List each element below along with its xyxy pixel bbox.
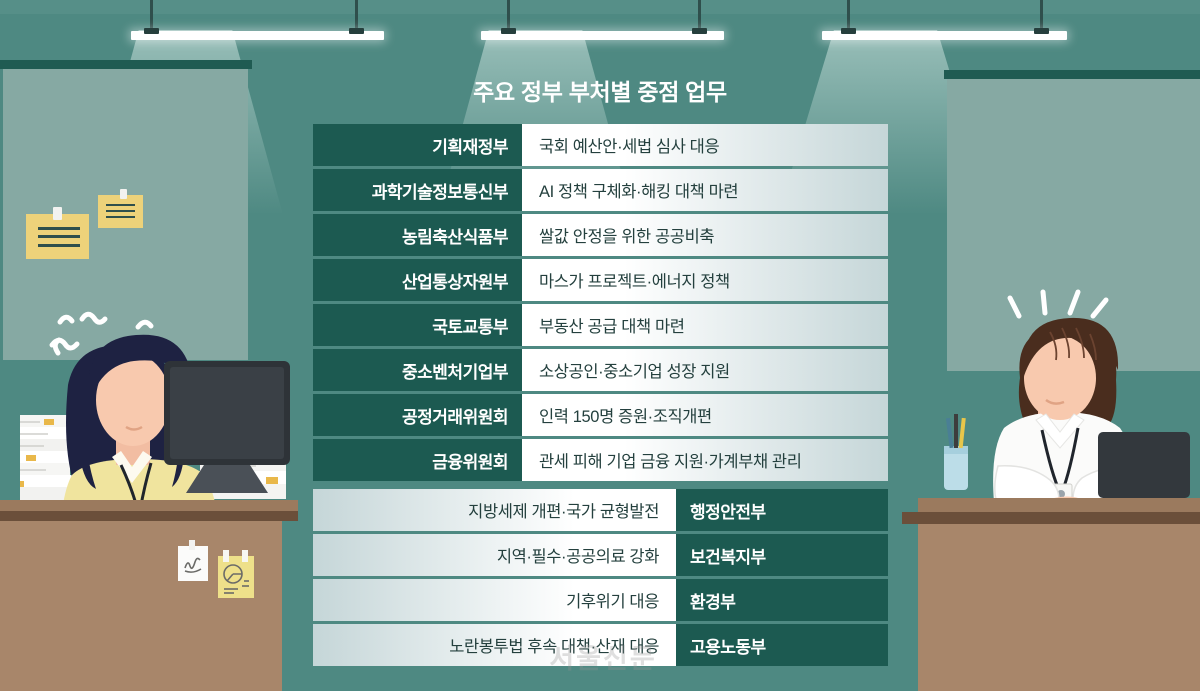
paper-stack-left — [20, 415, 72, 501]
left-desk-front — [0, 520, 282, 691]
ministry-label: 보건복지부 — [676, 534, 888, 576]
task-value: 기후위기 대응 — [313, 579, 676, 621]
ministry-task-table-primary: 기획재정부 국회 예산안·세법 심사 대응 과학기술정보통신부 AI 정책 구체… — [313, 124, 888, 484]
exclamation-rays-icon — [1010, 292, 1106, 316]
task-value: 국회 예산안·세법 심사 대응 — [522, 124, 888, 166]
task-value: 부동산 공급 대책 마련 — [522, 304, 888, 346]
table-row: 중소벤처기업부 소상공인·중소기업 성장 지원 — [313, 349, 888, 391]
table-row: 노란봉투법 후속 대책·산재 대응 고용노동부 — [313, 624, 888, 666]
task-value: 지역·필수·공공의료 강화 — [313, 534, 676, 576]
task-value: 지방세제 개편·국가 균형발전 — [313, 489, 676, 531]
ministry-label: 공정거래위원회 — [313, 394, 522, 436]
table-row: 지방세제 개편·국가 균형발전 행정안전부 — [313, 489, 888, 531]
right-desk-front — [918, 523, 1200, 691]
task-value: 인력 150명 증원·조직개편 — [522, 394, 888, 436]
left-desk-edge — [0, 511, 298, 521]
task-value: AI 정책 구체화·해킹 대책 마련 — [522, 169, 888, 211]
table-row: 기후위기 대응 환경부 — [313, 579, 888, 621]
ministry-label: 고용노동부 — [676, 624, 888, 666]
ministry-label: 국토교통부 — [313, 304, 522, 346]
ministry-label: 과학기술정보통신부 — [313, 169, 522, 211]
table-row: 국토교통부 부동산 공급 대책 마련 — [313, 304, 888, 346]
task-value: 마스가 프로젝트·에너지 정책 — [522, 259, 888, 301]
monitor-screen — [1098, 432, 1190, 498]
ministry-label: 농림축산식품부 — [313, 214, 522, 256]
ministry-label: 중소벤처기업부 — [313, 349, 522, 391]
ministry-label: 행정안전부 — [676, 489, 888, 531]
table-row: 지역·필수·공공의료 강화 보건복지부 — [313, 534, 888, 576]
desk-note-white-chart — [178, 546, 208, 581]
desk-note-yellow-pie — [218, 556, 254, 598]
ministry-task-table-secondary: 지방세제 개편·국가 균형발전 행정안전부 지역·필수·공공의료 강화 보건복지… — [313, 489, 888, 669]
task-value: 노란봉투법 후속 대책·산재 대응 — [313, 624, 676, 666]
left-whiteboard-frame — [0, 60, 252, 69]
task-value: 쌀값 안정을 위한 공공비축 — [522, 214, 888, 256]
table-row: 공정거래위원회 인력 150명 증원·조직개편 — [313, 394, 888, 436]
ministry-label: 금융위원회 — [313, 439, 522, 481]
whiteboard-sticky-note-1 — [26, 214, 89, 259]
ministry-label: 산업통상자원부 — [313, 259, 522, 301]
page-title: 주요 정부 부처별 중점 업무 — [0, 73, 1200, 107]
table-row: 과학기술정보통신부 AI 정책 구체화·해킹 대책 마련 — [313, 169, 888, 211]
ceiling — [0, 0, 1200, 14]
right-desk-edge — [902, 512, 1200, 524]
infographic-canvas: 주요 정부 부처별 중점 업무 기획재정부 국회 예산안·세법 심사 대응 과학… — [0, 0, 1200, 691]
task-value: 소상공인·중소기업 성장 지원 — [522, 349, 888, 391]
table-row: 기획재정부 국회 예산안·세법 심사 대응 — [313, 124, 888, 166]
table-row: 농림축산식품부 쌀값 안정을 위한 공공비축 — [313, 214, 888, 256]
task-value: 관세 피해 기업 금융 지원·가계부채 관리 — [522, 439, 888, 481]
table-row: 금융위원회 관세 피해 기업 금융 지원·가계부채 관리 — [313, 439, 888, 481]
ministry-label: 환경부 — [676, 579, 888, 621]
ministry-label: 기획재정부 — [313, 124, 522, 166]
pencil-cup — [944, 414, 968, 490]
table-row: 산업통상자원부 마스가 프로젝트·에너지 정책 — [313, 259, 888, 301]
whiteboard-sticky-note-2 — [98, 195, 143, 228]
